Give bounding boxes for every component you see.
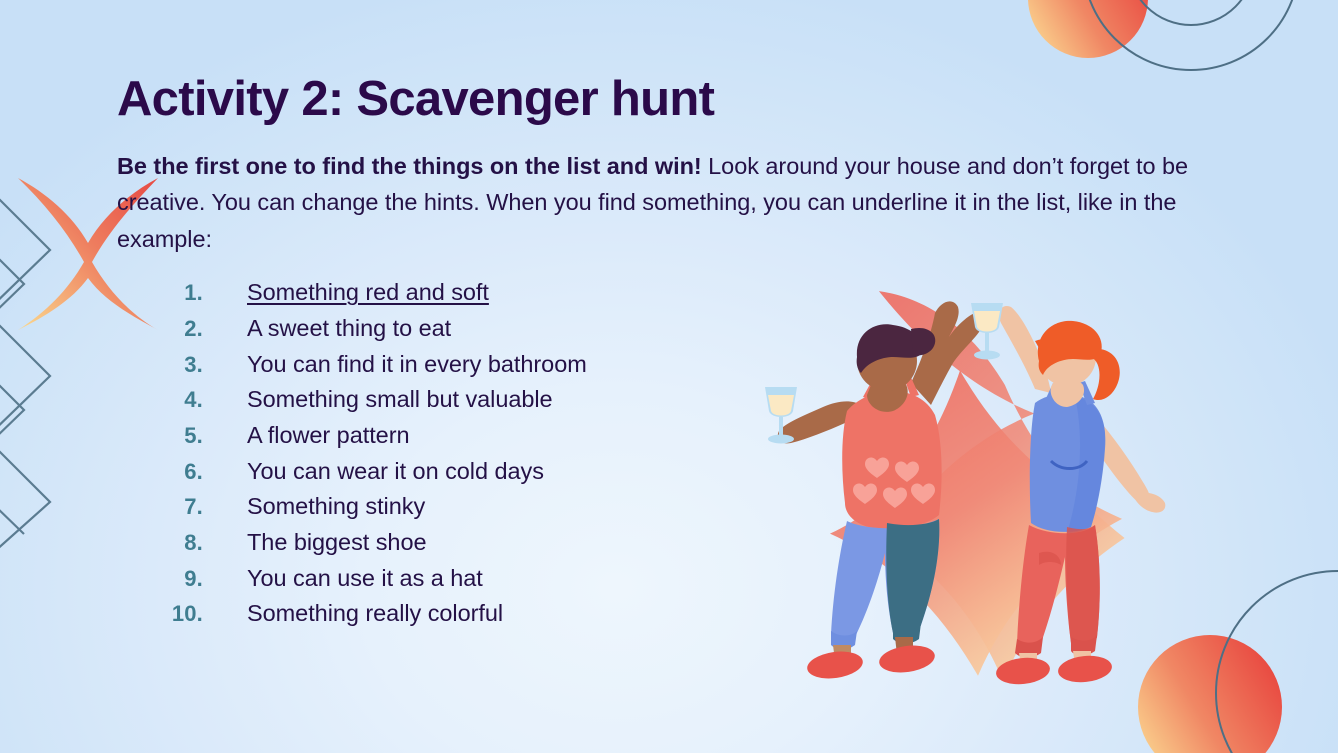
list-item-text: The biggest shoe: [247, 529, 427, 556]
list-item-number: 10.: [117, 601, 203, 627]
list-item-text: Something small but valuable: [247, 386, 553, 413]
list-item-text: Something stinky: [247, 493, 425, 520]
list-item[interactable]: 5. A flower pattern: [117, 422, 1202, 458]
intro-paragraph: Be the first one to find the things on t…: [117, 148, 1193, 257]
list-item-text: You can use it as a hat: [247, 565, 483, 592]
shoe-left: [805, 648, 864, 682]
list-item[interactable]: 4. Something small but valuable: [117, 386, 1202, 422]
list-item-text: A sweet thing to eat: [247, 315, 451, 342]
list-item[interactable]: 8. The biggest shoe: [117, 529, 1202, 565]
list-item[interactable]: 6. You can wear it on cold days: [117, 458, 1202, 494]
list-item[interactable]: 2. A sweet thing to eat: [117, 315, 1202, 351]
shoe-right: [877, 642, 936, 676]
list-item-number: 4.: [117, 387, 203, 413]
list-item-number: 5.: [117, 423, 203, 449]
list-item[interactable]: 1. Something red and soft: [117, 279, 1202, 315]
list-item-text: Something really colorful: [247, 600, 503, 627]
list-item-number: 3.: [117, 352, 203, 378]
list-item-text: Something red and soft: [247, 279, 489, 306]
circle-top-right-gradient-icon: [1028, 0, 1148, 58]
list-item-number: 9.: [117, 566, 203, 592]
slide-content: Activity 2: Scavenger hunt Be the first …: [117, 74, 1202, 636]
list-item[interactable]: 9. You can use it as a hat: [117, 565, 1202, 601]
list-item-number: 6.: [117, 459, 203, 485]
list-item[interactable]: 7. Something stinky: [117, 493, 1202, 529]
intro-bold-lead: Be the first one to find the things on t…: [117, 153, 702, 179]
list-item-text: A flower pattern: [247, 422, 409, 449]
list-item-text: You can find it in every bathroom: [247, 351, 587, 378]
list-item[interactable]: 10. Something really colorful: [117, 600, 1202, 636]
shoe-right: [1057, 653, 1113, 685]
list-item-number: 7.: [117, 494, 203, 520]
slide-canvas: Activity 2: Scavenger hunt Be the first …: [0, 0, 1338, 753]
zigzag-left-icon: [0, 186, 50, 552]
list-item-number: 2.: [117, 316, 203, 342]
scavenger-hunt-list: 1. Something red and soft 2. A sweet thi…: [117, 279, 1202, 636]
list-item-number: 8.: [117, 530, 203, 556]
list-item-number: 1.: [117, 280, 203, 306]
page-title: Activity 2: Scavenger hunt: [117, 74, 1202, 126]
list-item-text: You can wear it on cold days: [247, 458, 544, 485]
list-item[interactable]: 3. You can find it in every bathroom: [117, 351, 1202, 387]
